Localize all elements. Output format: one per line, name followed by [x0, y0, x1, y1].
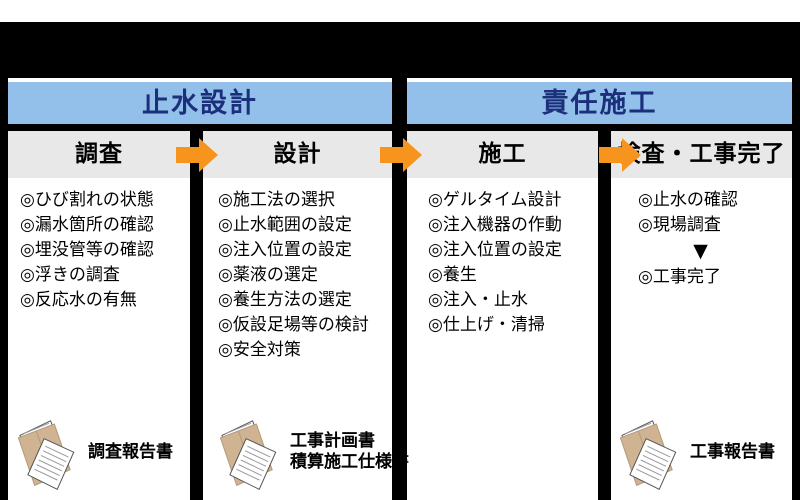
stage-column-investigation: ◎ひび割れの状態 ◎漏水箇所の確認 ◎埋没管等の確認 ◎浮きの調査 ◎反応水の有… — [20, 188, 190, 313]
list-item: ◎仮設足場等の検討 — [218, 313, 392, 338]
list-item: ◎漏水箇所の確認 — [20, 213, 190, 238]
stage-header-construction: 施工 — [407, 131, 598, 178]
list-item: ◎仕上げ・清掃 — [428, 313, 598, 338]
bullet-list-inspection: ◎止水の確認 ◎現場調査 ▼ ◎工事完了 — [638, 188, 793, 290]
workflow-diagram: 止水設計 責任施工 調査 設計 施工 検査・工事完了 ◎ひび割れの状態 ◎漏水箇… — [0, 0, 800, 500]
deliverable-inspection: 工事報告書 — [612, 412, 775, 492]
stage-header-investigation: 調査 — [8, 131, 190, 178]
arrow-investigation-to-design — [176, 138, 218, 172]
list-item: ◎止水の確認 — [638, 188, 793, 213]
stage-header-construction-label: 施工 — [479, 143, 527, 166]
list-item: ◎工事完了 — [638, 265, 793, 290]
phase-banner-construction-label: 責任施工 — [542, 90, 658, 117]
list-item: ◎安全対策 — [218, 338, 392, 363]
stage-header-design: 設計 — [203, 131, 392, 178]
deliverable-design: 工事計画書 積算施工仕様書 — [212, 412, 409, 492]
bullet-list-design: ◎施工法の選択 ◎止水範囲の設定 ◎注入位置の設定 ◎薬液の選定 ◎養生方法の選… — [218, 188, 392, 363]
list-item: ◎ひび割れの状態 — [20, 188, 190, 213]
divider-investigation-design — [190, 131, 203, 500]
down-triangle-icon: ▼ — [638, 238, 793, 265]
phase-banner-design: 止水設計 — [8, 82, 392, 124]
masthead-band — [0, 22, 800, 78]
list-item: ◎埋没管等の確認 — [20, 238, 190, 263]
document-envelope-icon — [212, 412, 288, 492]
list-item: ◎養生方法の選定 — [218, 288, 392, 313]
deliverable-caption-investigation: 調査報告書 — [88, 442, 173, 463]
phase-banner-design-label: 止水設計 — [142, 90, 258, 117]
list-item: ◎注入・止水 — [428, 288, 598, 313]
list-item: ◎注入位置の設定 — [218, 238, 392, 263]
stage-column-construction: ◎ゲルタイム設計 ◎注入機器の作動 ◎注入位置の設定 ◎養生 ◎注入・止水 ◎仕… — [428, 188, 598, 338]
divider-construction-inspection — [598, 131, 611, 500]
bullet-list-construction: ◎ゲルタイム設計 ◎注入機器の作動 ◎注入位置の設定 ◎養生 ◎注入・止水 ◎仕… — [428, 188, 598, 338]
phase-banner-construction: 責任施工 — [407, 82, 792, 124]
list-item: ◎浮きの調査 — [20, 263, 190, 288]
stage-header-investigation-label: 調査 — [75, 143, 123, 166]
list-item: ◎注入位置の設定 — [428, 238, 598, 263]
list-item: ◎施工法の選択 — [218, 188, 392, 213]
list-item: ◎薬液の選定 — [218, 263, 392, 288]
caption-line: 調査報告書 — [88, 442, 173, 463]
arrow-design-to-construction — [380, 138, 422, 172]
divider-outer-left — [0, 78, 8, 500]
deliverable-caption-inspection: 工事報告書 — [690, 442, 775, 463]
bullet-list-investigation: ◎ひび割れの状態 ◎漏水箇所の確認 ◎埋没管等の確認 ◎浮きの調査 ◎反応水の有… — [20, 188, 190, 313]
document-envelope-icon — [10, 412, 86, 492]
stage-header-design-label: 設計 — [274, 143, 322, 166]
divider-outer-right — [792, 78, 800, 500]
stage-column-inspection: ◎止水の確認 ◎現場調査 ▼ ◎工事完了 — [638, 188, 793, 290]
document-envelope-icon — [612, 412, 688, 492]
list-item: ◎止水範囲の設定 — [218, 213, 392, 238]
list-item: ◎反応水の有無 — [20, 288, 190, 313]
list-item: ◎ゲルタイム設計 — [428, 188, 598, 213]
list-item: ◎注入機器の作動 — [428, 213, 598, 238]
deliverable-investigation: 調査報告書 — [10, 412, 173, 492]
stage-column-design: ◎施工法の選択 ◎止水範囲の設定 ◎注入位置の設定 ◎薬液の選定 ◎養生方法の選… — [218, 188, 392, 363]
caption-line: 工事報告書 — [690, 442, 775, 463]
list-item: ◎養生 — [428, 263, 598, 288]
list-item: ◎現場調査 — [638, 213, 793, 238]
arrow-construction-to-inspection — [599, 138, 641, 172]
stage-header-inspection-label: 検査・工事完了 — [618, 143, 786, 166]
